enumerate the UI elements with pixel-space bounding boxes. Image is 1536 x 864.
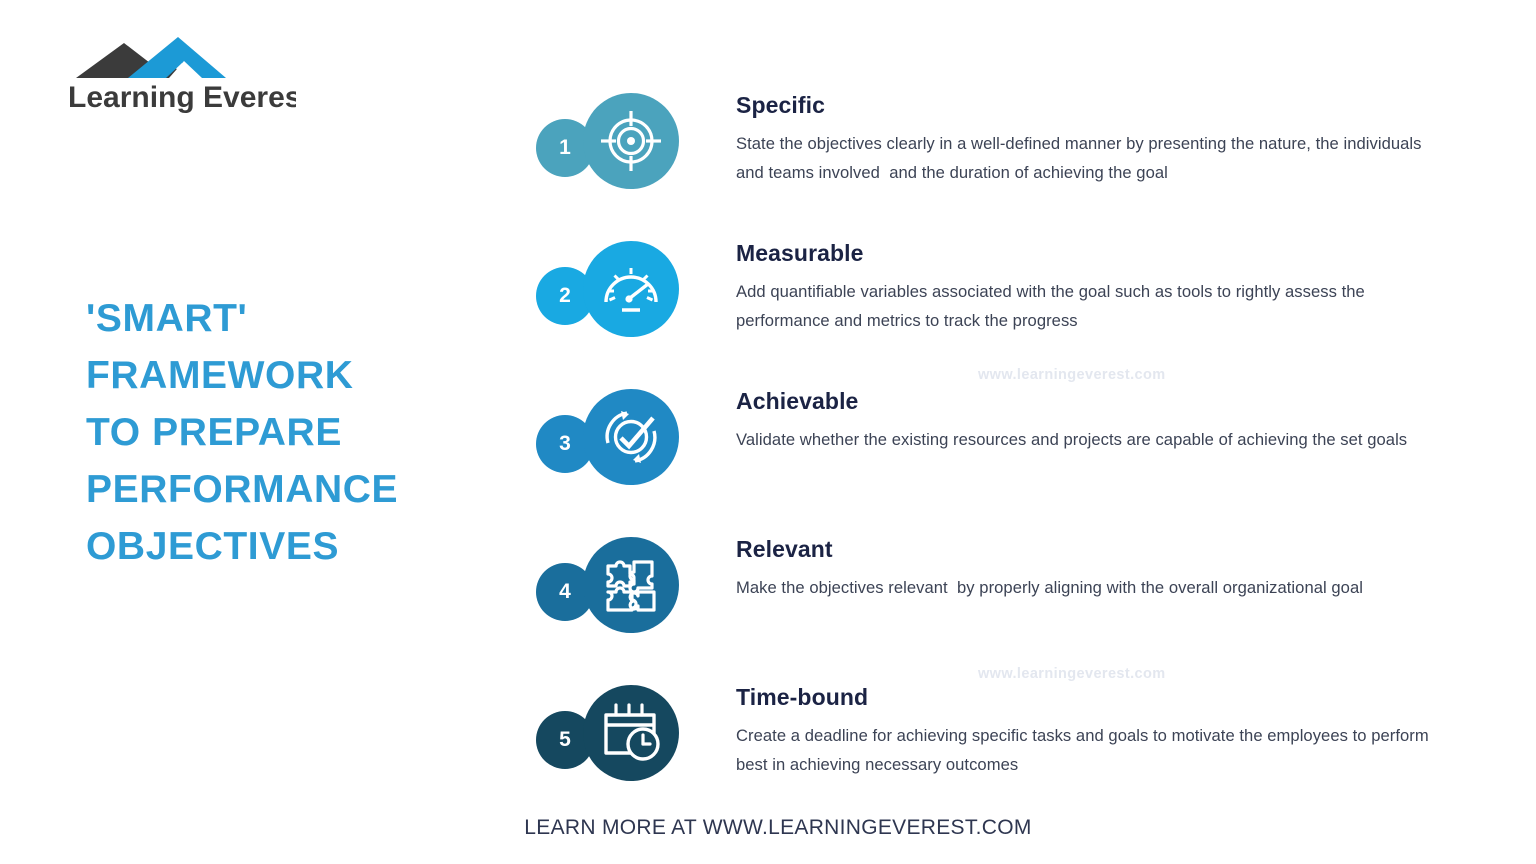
mountain-peaks-icon: Learning Everest bbox=[66, 33, 296, 113]
calendar-clock-icon bbox=[599, 701, 663, 765]
page-title: 'SMART' FRAMEWORK TO PREPARE PERFORMANCE… bbox=[86, 290, 486, 575]
item-description: Validate whether the existing resources … bbox=[736, 426, 1436, 455]
title-line-3: TO PREPARE bbox=[86, 404, 486, 461]
logo-wordmark: Learning Everest bbox=[68, 81, 296, 113]
footer-cta-text: LEARN MORE AT WWW.LEARNINGEVEREST.COM bbox=[524, 816, 1031, 840]
item-text-time-bound: Time-bound Create a deadline for achievi… bbox=[736, 684, 1436, 779]
item-title: Specific bbox=[736, 92, 1436, 119]
target-crosshair-icon bbox=[600, 110, 662, 172]
title-line-1: 'SMART' bbox=[86, 290, 486, 347]
item-description: Create a deadline for achieving specific… bbox=[736, 722, 1436, 779]
icon-circle-time-bound bbox=[583, 685, 679, 781]
item-title: Measurable bbox=[736, 240, 1436, 267]
item-title: Achievable bbox=[736, 388, 1436, 415]
icon-circle-achievable bbox=[583, 389, 679, 485]
item-title: Time-bound bbox=[736, 684, 1436, 711]
list-item-time-bound: 5 Time-boun bbox=[536, 674, 1466, 822]
icon-circle-specific bbox=[583, 93, 679, 189]
puzzle-pieces-icon bbox=[600, 554, 662, 616]
item-text-relevant: Relevant Make the objectives relevant by… bbox=[736, 536, 1436, 603]
item-description: State the objectives clearly in a well-d… bbox=[736, 130, 1436, 187]
watermark-top: www.learningeverest.com bbox=[978, 367, 1166, 383]
list-item-measurable: 2 bbox=[536, 230, 1466, 378]
list-item-specific: 1 Specific S bbox=[536, 82, 1466, 230]
item-text-achievable: Achievable Validate whether the existing… bbox=[736, 388, 1436, 455]
list-item-achievable: 3 Achievable Validate whether the existi… bbox=[536, 378, 1466, 526]
check-circle-arrows-icon bbox=[599, 405, 663, 469]
learning-everest-logo: Learning Everest bbox=[66, 33, 296, 113]
item-text-specific: Specific State the objectives clearly in… bbox=[736, 92, 1436, 187]
item-text-measurable: Measurable Add quantifiable variables as… bbox=[736, 240, 1436, 335]
item-description: Add quantifiable variables associated wi… bbox=[736, 278, 1436, 335]
footer: LEARN MORE AT WWW.LEARNINGEVEREST.COM bbox=[0, 816, 1536, 840]
icon-circle-relevant bbox=[583, 537, 679, 633]
item-title: Relevant bbox=[736, 536, 1436, 563]
title-line-2: FRAMEWORK bbox=[86, 347, 486, 404]
item-description: Make the objectives relevant by properly… bbox=[736, 574, 1436, 603]
smart-criteria-list: 1 Specific S bbox=[536, 82, 1466, 822]
list-item-relevant: 4 Relevant Make the objectives relevant … bbox=[536, 526, 1466, 674]
smart-framework-infographic: Learning Everest 'SMART' FRAMEWORK TO PR… bbox=[0, 0, 1536, 864]
title-line-5: OBJECTIVES bbox=[86, 518, 486, 575]
icon-circle-measurable bbox=[583, 241, 679, 337]
title-line-4: PERFORMANCE bbox=[86, 461, 486, 518]
watermark-bottom: www.learningeverest.com bbox=[978, 666, 1166, 682]
speedometer-gauge-icon bbox=[600, 258, 662, 320]
